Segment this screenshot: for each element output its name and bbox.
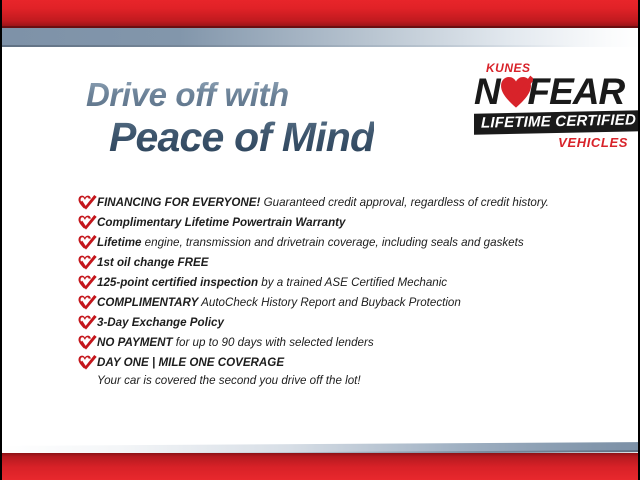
heart-check-icon: [78, 255, 97, 270]
heart-check-icon: [78, 295, 97, 310]
benefit-list-item: 1st oil change FREE: [78, 253, 598, 273]
benefit-bold-text: 3-Day Exchange Policy: [97, 316, 224, 329]
benefit-text: Lifetime engine, transmission and drivet…: [97, 233, 524, 252]
benefit-text: DAY ONE | MILE ONE COVERAGE: [97, 353, 361, 372]
benefit-list-item: FINANCING FOR EVERYONE! Guaranteed credi…: [78, 193, 598, 213]
benefit-text: NO PAYMENT for up to 90 days with select…: [97, 333, 374, 352]
kunes-no-fear-logo: KUNES NOFEAR LIFETIME CERTIFIED VEHICLES: [474, 62, 632, 149]
benefit-detail-text: Guaranteed credit approval, regardless o…: [260, 196, 549, 209]
logo-nofear-lockup: NOFEAR: [474, 73, 632, 111]
top-gray-band: [0, 28, 640, 47]
benefit-subtext: Your car is covered the second you drive…: [97, 372, 361, 389]
benefit-detail-text: for up to 90 days with selected lenders: [173, 336, 374, 349]
benefit-bold-text: DAY ONE | MILE ONE COVERAGE: [97, 356, 284, 369]
logo-letter-n: N: [474, 71, 500, 112]
benefit-bold-text: 1st oil change FREE: [97, 256, 208, 269]
headline: Drive off with Peace of Mind: [86, 78, 374, 159]
benefit-list-item: 3-Day Exchange Policy: [78, 313, 598, 333]
logo-nofear-wordmark: NOFEAR: [474, 73, 632, 111]
logo-vehicles-text: VEHICLES: [474, 136, 632, 149]
benefit-list-item: 125-point certified inspection by a trai…: [78, 273, 598, 293]
benefit-list-item: COMPLIMENTARY AutoCheck History Report a…: [78, 293, 598, 313]
benefit-detail-text: by a trained ASE Certified Mechanic: [258, 276, 447, 289]
heart-check-icon: [78, 255, 97, 270]
benefit-text: 1st oil change FREE: [97, 253, 208, 272]
heart-check-icon: [78, 315, 97, 330]
benefit-bold-text: 125-point certified inspection: [97, 276, 258, 289]
heart-check-icon: [499, 75, 533, 109]
benefit-bold-text: Lifetime: [97, 236, 141, 249]
heart-check-icon: [78, 235, 97, 250]
benefit-list-item: NO PAYMENT for up to 90 days with select…: [78, 333, 598, 353]
benefit-bold-text: NO PAYMENT: [97, 336, 173, 349]
heart-check-icon: [78, 195, 97, 210]
top-red-band: [0, 0, 640, 28]
letterbox-edge-left: [0, 0, 2, 480]
heart-check-icon: [78, 215, 97, 230]
headline-line-2: Peace of Mind: [109, 116, 374, 159]
benefit-text: Complimentary Lifetime Powertrain Warran…: [97, 213, 345, 232]
benefit-text: FINANCING FOR EVERYONE! Guaranteed credi…: [97, 193, 549, 212]
heart-check-icon: [78, 355, 97, 370]
kunes-no-fear-advertisement: Drive off with Peace of Mind KUNES NOFEA…: [0, 0, 640, 480]
benefit-bold-text: Complimentary Lifetime Powertrain Warran…: [97, 216, 345, 229]
heart-check-icon: [78, 315, 97, 330]
logo-lifetime-certified-bar: LIFETIME CERTIFIED: [474, 110, 640, 134]
bottom-red-band: [0, 453, 640, 480]
benefit-list-item: Complimentary Lifetime Powertrain Warran…: [78, 213, 598, 233]
heart-check-icon: [78, 355, 97, 370]
benefit-bold-text: FINANCING FOR EVERYONE!: [97, 196, 260, 209]
benefit-bold-text: COMPLIMENTARY: [97, 296, 198, 309]
heart-check-icon: [78, 275, 97, 290]
benefit-list-item: DAY ONE | MILE ONE COVERAGEYour car is c…: [78, 353, 598, 389]
benefit-detail-text: AutoCheck History Report and Buyback Pro…: [198, 296, 461, 309]
heart-check-icon: [78, 335, 97, 350]
heart-check-icon: [78, 335, 97, 350]
benefit-text: 3-Day Exchange Policy: [97, 313, 224, 332]
heart-check-icon: [78, 195, 97, 210]
benefit-text: 125-point certified inspection by a trai…: [97, 273, 447, 292]
heart-check-icon: [78, 275, 97, 290]
benefit-text: COMPLIMENTARY AutoCheck History Report a…: [97, 293, 461, 312]
benefits-list: FINANCING FOR EVERYONE! Guaranteed credi…: [78, 193, 598, 389]
heart-check-icon: [78, 295, 97, 310]
benefit-detail-text: engine, transmission and drivetrain cove…: [141, 236, 523, 249]
heart-check-icon: [78, 235, 97, 250]
benefit-list-item: Lifetime engine, transmission and drivet…: [78, 233, 598, 253]
logo-fear-word: FEAR: [528, 71, 625, 112]
heart-check-icon: [78, 215, 97, 230]
headline-line-1: Drive off with: [86, 78, 374, 113]
